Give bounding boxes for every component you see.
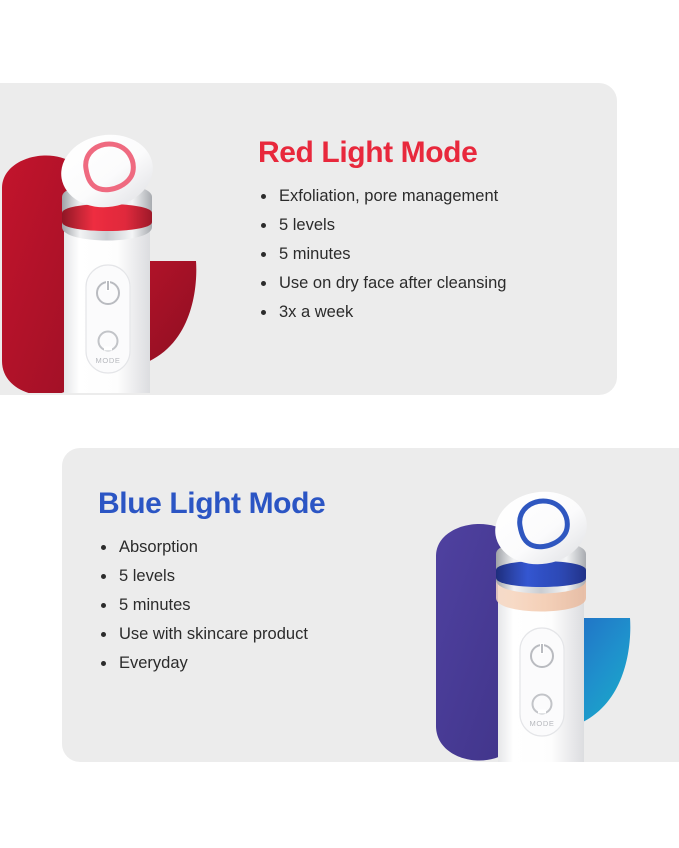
list-item: Exfoliation, pore management	[258, 182, 598, 211]
list-item: Use with skincare product	[98, 620, 428, 649]
device-accent-stripe	[62, 204, 152, 231]
blue-light-mode-card: Blue Light Mode Absorption 5 levels 5 mi…	[62, 448, 679, 762]
red-feature-list: Exfoliation, pore management 5 levels 5 …	[258, 182, 598, 327]
list-item: Use on dry face after cleansing	[258, 269, 598, 298]
blue-device-illustration: MODE	[418, 470, 648, 762]
red-card-content: MODE Red Light Mode Exfoliation, pore ma…	[0, 83, 617, 395]
blue-headline: Blue Light Mode	[98, 488, 428, 520]
list-item: 5 minutes	[258, 240, 598, 269]
blue-feature-list: Absorption 5 levels 5 minutes Use with s…	[98, 533, 428, 678]
list-item: Absorption	[98, 533, 428, 562]
list-item: 3x a week	[258, 298, 598, 327]
list-item: 5 levels	[258, 211, 598, 240]
red-headline: Red Light Mode	[258, 137, 598, 169]
device-accent-stripe	[496, 561, 586, 587]
blue-device: MODE	[490, 485, 592, 762]
device-mode-label: MODE	[96, 356, 121, 365]
red-light-mode-card: MODE Red Light Mode Exfoliation, pore ma…	[0, 83, 617, 395]
list-item: 5 minutes	[98, 591, 428, 620]
list-item: 5 levels	[98, 562, 428, 591]
blue-text-column: Blue Light Mode Absorption 5 levels 5 mi…	[98, 488, 428, 678]
red-device-illustration: MODE	[0, 93, 220, 393]
red-device: MODE	[56, 128, 158, 393]
list-item: Everyday	[98, 649, 428, 678]
device-mode-label: MODE	[530, 719, 555, 728]
red-text-column: Red Light Mode Exfoliation, pore managem…	[258, 137, 598, 327]
blue-card-content: Blue Light Mode Absorption 5 levels 5 mi…	[62, 448, 679, 762]
